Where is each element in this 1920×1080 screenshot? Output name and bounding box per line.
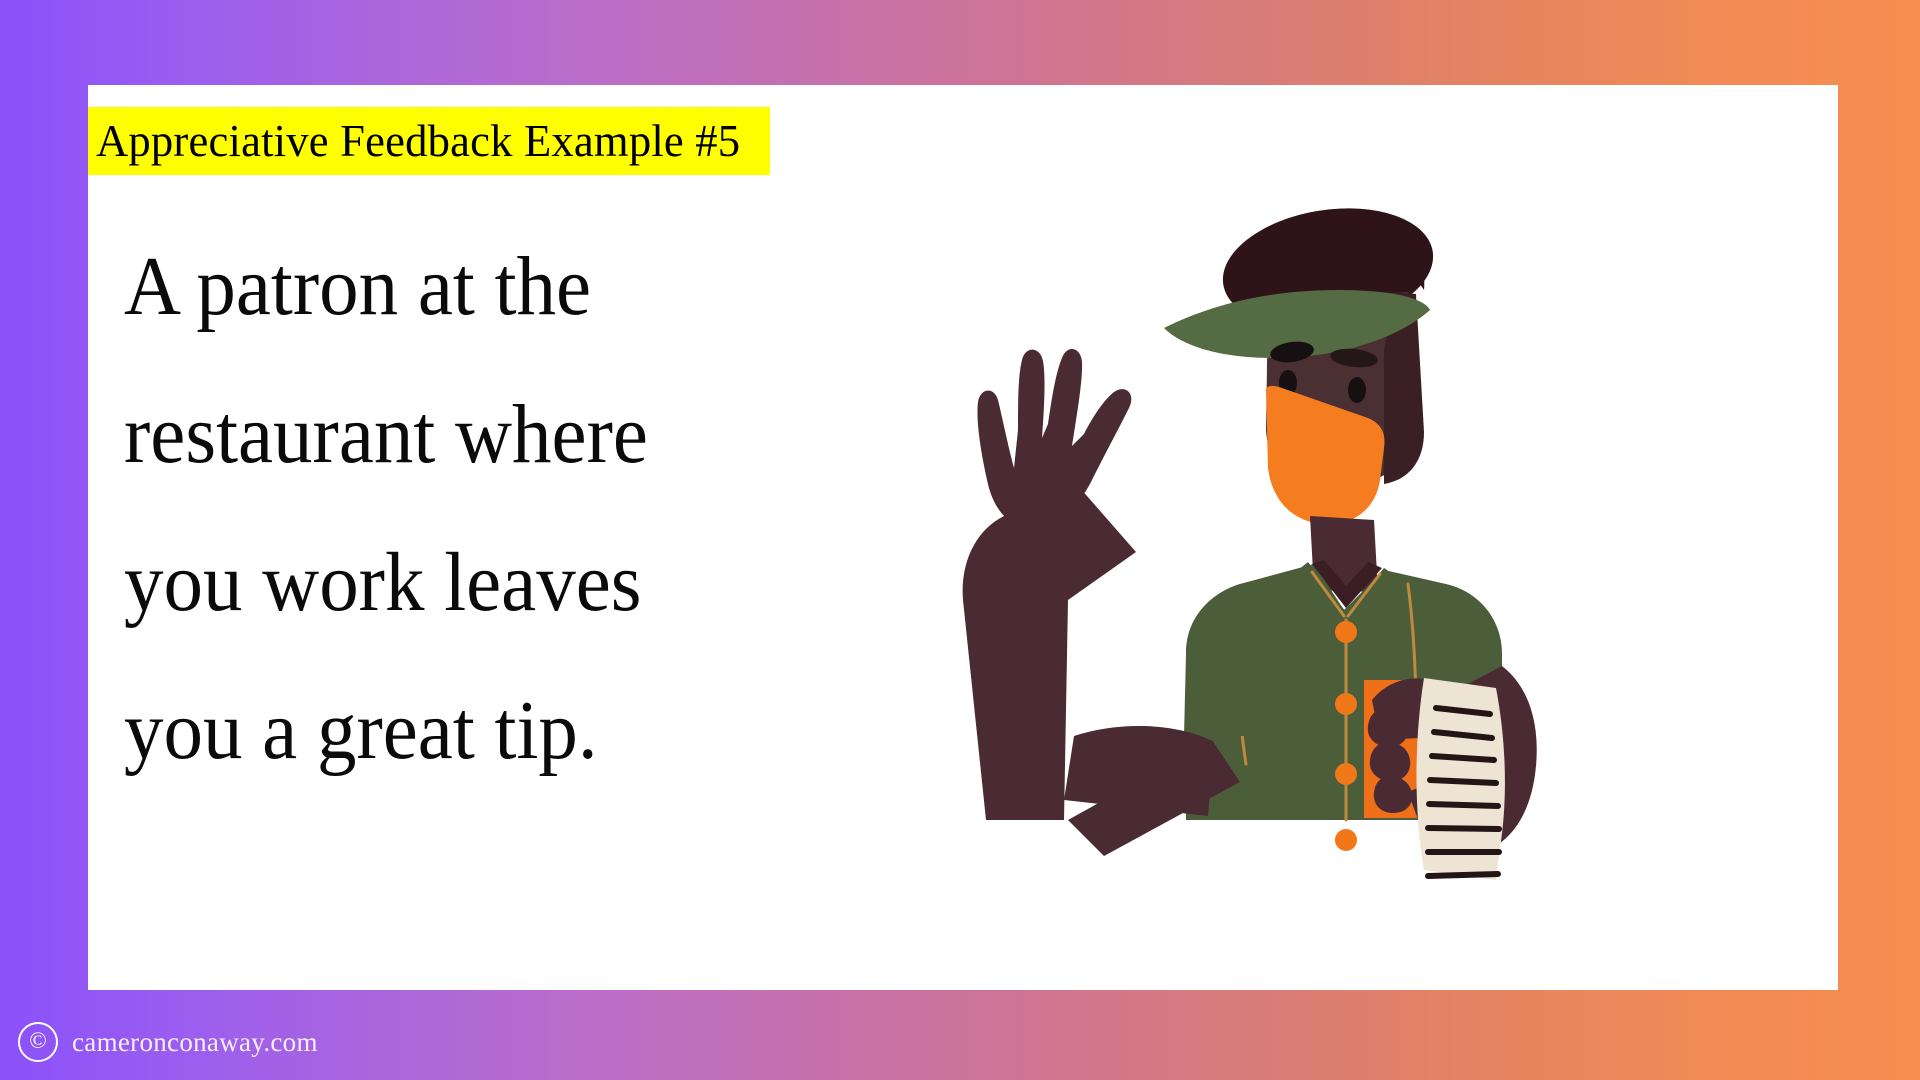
server-illustration [868,180,1568,880]
shirt-button-icon [1335,763,1357,785]
shirt-button-icon [1335,621,1357,643]
watermark: © cameronconaway.com [18,1022,318,1062]
content-card: Appreciative Feedback Example #5 A patro… [88,85,1838,990]
page-title: Appreciative Feedback Example #5 [96,118,740,164]
body-line: you work leaves [124,509,876,657]
poster-canvas: Appreciative Feedback Example #5 A patro… [0,0,1920,1080]
body-line: A patron at the [124,213,876,361]
watermark-url: cameronconaway.com [72,1027,318,1058]
body-text-block: A patron at the restaurant where you wor… [124,213,924,805]
receipt-icon [1417,678,1505,880]
copyright-icon: © [18,1022,58,1062]
shirt-button-icon [1335,829,1357,851]
shirt-button-icon [1335,693,1357,715]
body-line: you a great tip. [124,657,876,805]
title-highlight-band: Appreciative Feedback Example #5 [88,107,770,175]
body-line: restaurant where [124,361,876,509]
